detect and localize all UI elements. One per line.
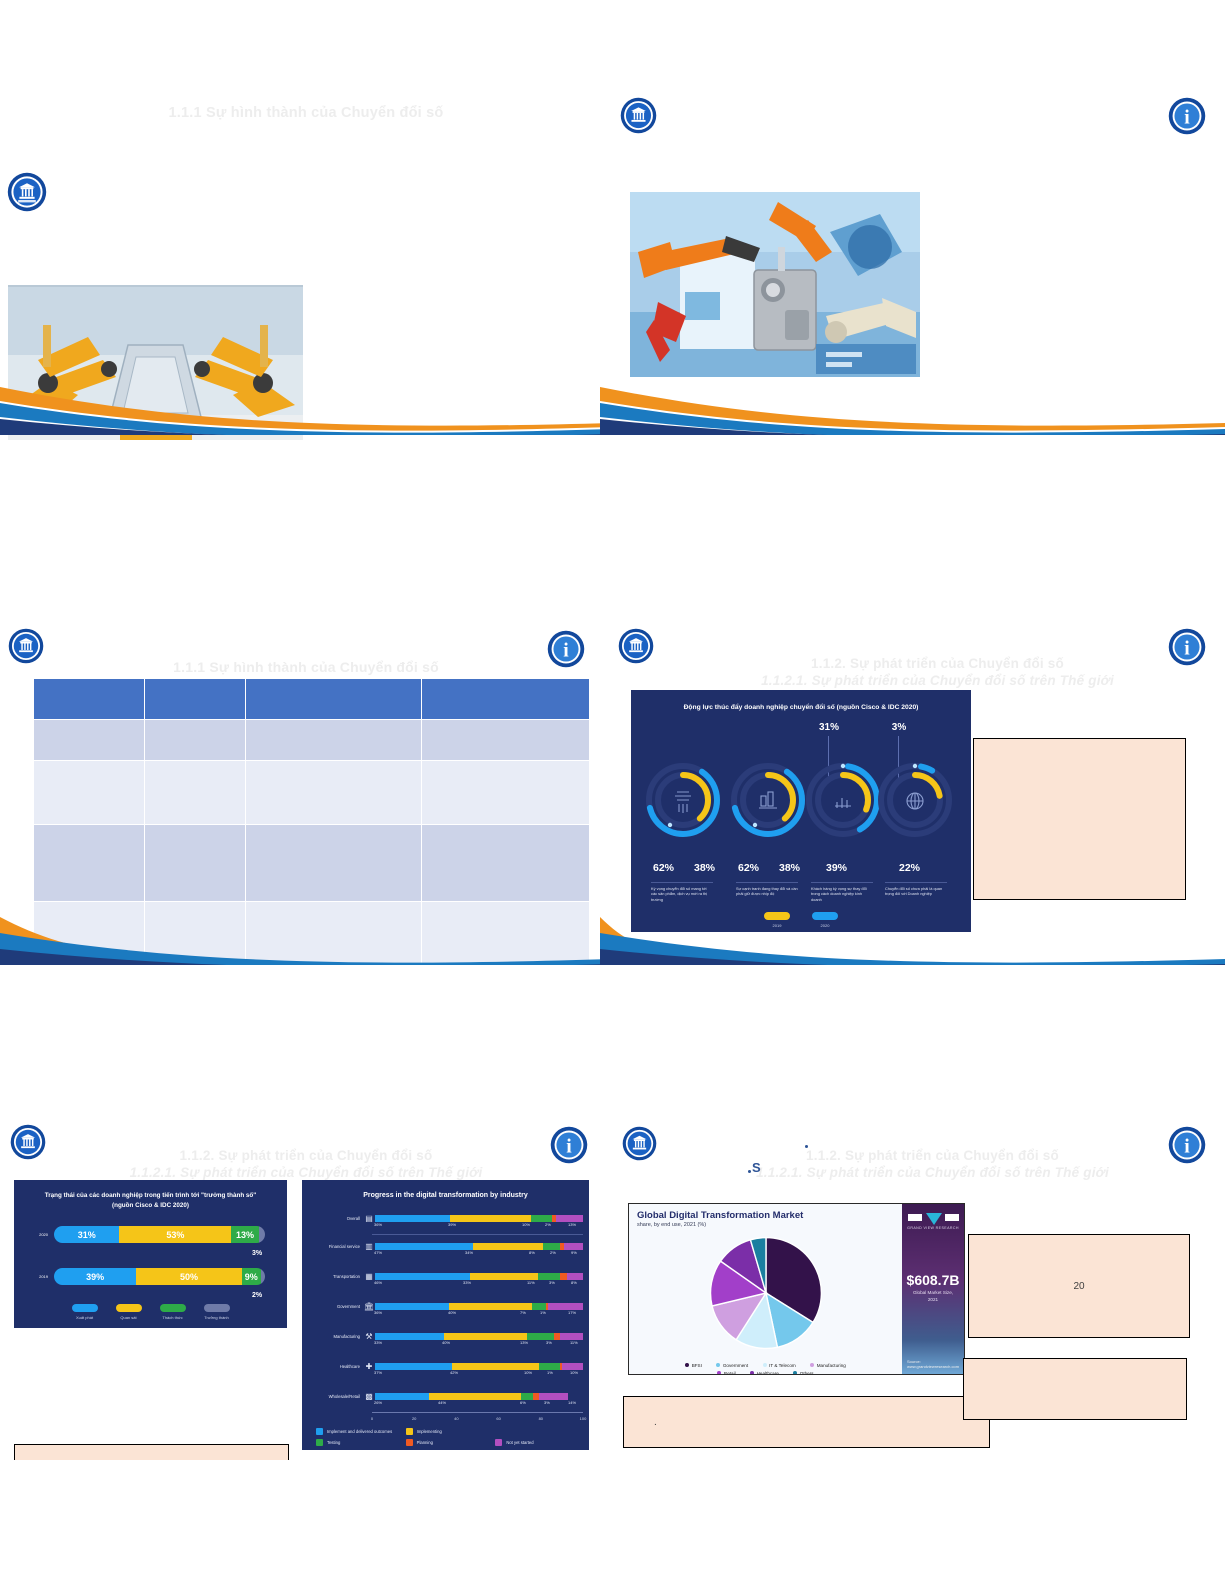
value-label: 39% (448, 1222, 456, 1227)
industry-values-wholesale: 26% 44% 6% 3% 14% (372, 1400, 589, 1408)
legend-item-xuat-phat: Xuất phát (72, 1304, 98, 1320)
value-label: 1% (547, 1370, 553, 1375)
donut-desc-3: Khách hàng kỳ vọng sự thay đổi trong các… (811, 882, 873, 902)
table-cell (34, 824, 145, 901)
institute-seal-right-icon: i (1168, 97, 1206, 135)
maturity-legend: Xuất phát Quan sát Thách thức Trưởng thà… (14, 1304, 287, 1320)
seg-quan-sat: 53% (119, 1226, 231, 1243)
value-label: 3% (546, 1340, 552, 1345)
institute-seal-right-icon: i (550, 1126, 588, 1164)
industry-bar (375, 1363, 583, 1370)
gdtm-source-url[interactable]: www.grandviewresearch.com (907, 1364, 959, 1369)
industry-label: Manufacturing (302, 1334, 363, 1339)
table-row (34, 824, 590, 901)
seg-quan-sat: 50% (136, 1268, 242, 1285)
maturity-row-2019: 2019 39% 50% 9% (30, 1268, 265, 1285)
table-col-header (145, 679, 246, 720)
slide-2-footer-wave (600, 373, 1225, 440)
seg-not-started (564, 1243, 583, 1250)
x-tick: 20 (412, 1416, 416, 1421)
legend-swatch (406, 1439, 413, 1446)
industry-bar (375, 1393, 583, 1400)
industry-divider (372, 1234, 583, 1235)
industry-values-healthcare: 37% 42% 10% 1% 10% (372, 1370, 589, 1378)
legend-label: Testing (327, 1440, 340, 1445)
value-label: 2% (545, 1222, 551, 1227)
value-label: 1% (540, 1310, 546, 1315)
drivers-chart-title: Động lực thúc đẩy doanh nghiệp chuyển đổ… (631, 704, 971, 711)
page-number: 20 (1073, 1281, 1084, 1292)
value-label: 10% (522, 1222, 530, 1227)
stray-mark-s: S (752, 1160, 761, 1175)
value-label: 11% (570, 1340, 578, 1345)
seg-not-started (556, 1215, 583, 1222)
value-label: 36% (374, 1222, 382, 1227)
value-label: 33% (463, 1280, 471, 1285)
seg-implemented (375, 1273, 470, 1280)
legend-label: Planning (417, 1440, 433, 1445)
seg-testing (539, 1363, 560, 1370)
donut-desc-2: Sự cạnh tranh đang thay đổi và cần phải … (736, 882, 798, 897)
seg-implemented (375, 1393, 429, 1400)
legend-label: Others (800, 1371, 814, 1376)
gdtm-amount-sub2: 2021 (902, 1297, 964, 1303)
table-cell (246, 824, 422, 901)
legend-item-retail: Retail (717, 1371, 735, 1376)
svg-text:i: i (1184, 638, 1190, 660)
university-seal-left-icon (622, 1126, 657, 1161)
industry-values-overall: 36% 39% 10% 2% 13% (372, 1222, 589, 1230)
value-label: 46% (374, 1280, 382, 1285)
value-label: 8% (571, 1280, 577, 1285)
maturity-outside-label-2020: 3% (252, 1250, 262, 1257)
slide-3-title: 1.1.1 Sự hình thành của Chuyển đổi số (0, 642, 612, 676)
note-box-page[interactable]: 20 (968, 1234, 1190, 1338)
legend-swatch-truong-thanh (204, 1304, 230, 1312)
value-label: 7% (520, 1310, 526, 1315)
slide-4-footer-wave (600, 903, 1225, 970)
value-label: 42% (450, 1370, 458, 1375)
table-row (34, 720, 590, 761)
value-label: 14% (568, 1400, 576, 1405)
seg-not-started (548, 1303, 583, 1310)
value-label: 17% (568, 1310, 576, 1315)
industry-label: Wholesale/Retail (302, 1394, 363, 1399)
legend-swatch (316, 1428, 323, 1435)
legend-item-truong-thanh: Trưởng thành (204, 1304, 230, 1320)
legend-label: Not yet started (506, 1440, 533, 1445)
seg-implementing (449, 1303, 531, 1310)
table-row (34, 760, 590, 824)
seg-implementing (429, 1393, 521, 1400)
industry-label: Government (302, 1304, 363, 1309)
seg-truong-thanh (261, 1268, 265, 1285)
value-label: 40% (448, 1310, 456, 1315)
note-text: . (654, 1417, 657, 1428)
university-seal-left-icon (10, 1124, 46, 1160)
gdtm-chart-area: Global Digital Transformation Market sha… (629, 1204, 902, 1374)
institute-seal-right-icon: i (1168, 1126, 1206, 1164)
seg-testing (521, 1393, 533, 1400)
handout-page: 1.1.1 Sự hình thành của Chuyển đổi số (0, 0, 1225, 1585)
axis-line (372, 1412, 583, 1413)
seg-testing (531, 1215, 552, 1222)
seg-testing (532, 1303, 546, 1310)
gdtm-brand-name: GRAND VIEW RESEARCH (902, 1226, 964, 1230)
seg-implemented (375, 1363, 452, 1370)
slide-3: 1.1.1 Sự hình thành của Chuyển đổi số i (0, 610, 612, 970)
industry-progress-panel: Progress in the digital transformation b… (302, 1180, 589, 1450)
slide-1: 1.1.1 Sự hình thành của Chuyển đổi số (0, 80, 612, 440)
svg-text:i: i (563, 640, 569, 662)
slide-5: 1.1.2. Sự phát triển của Chuyển đổi số 1… (0, 1100, 612, 1460)
industry-bar (375, 1303, 583, 1310)
maturity-title-line1: Trạng thái của các doanh nghiệp trong ti… (14, 1192, 287, 1199)
slide-4: 1.1.2. Sự phát triển của Chuyển đổi số 1… (600, 610, 1225, 970)
value-label: 8% (529, 1250, 535, 1255)
industry-bar (375, 1215, 583, 1222)
stray-mark-dot2 (748, 1170, 751, 1173)
value-label: 37% (374, 1370, 382, 1375)
x-tick: 60 (496, 1416, 500, 1421)
legend-item-others: Others (793, 1371, 813, 1376)
table-cell (34, 760, 145, 824)
donut-pct-38b: 38% (779, 862, 800, 874)
legend-label: Implementing (417, 1429, 442, 1434)
industry-legend: Implement and delivered outcomes Impleme… (316, 1428, 579, 1446)
gdtm-source: Source: www.grandviewresearch.com (907, 1359, 959, 1369)
university-seal-left-icon (7, 172, 47, 212)
legend-item-implementing: Implementing (406, 1428, 490, 1435)
legend-swatch-quan-sat (116, 1304, 142, 1312)
table-cell (246, 760, 422, 824)
x-tick: 80 (539, 1416, 543, 1421)
legend-dot (750, 1371, 754, 1375)
legend-swatch (406, 1428, 413, 1435)
seg-xuat-phat: 39% (54, 1268, 136, 1285)
value-label: 9% (571, 1250, 577, 1255)
maturity-ylabel-2019: 2019 (30, 1274, 48, 1279)
value-label: 6% (520, 1400, 526, 1405)
legend-item-not-started: Not yet started (495, 1439, 579, 1446)
slide-3-footer-wave (0, 903, 612, 970)
seg-not-started (560, 1333, 583, 1340)
donut-pct-38a: 38% (694, 862, 715, 874)
gdtm-subtitle: share, by end use, 2021 (%) (637, 1222, 706, 1228)
slide-6-title: 1.1.2. Sự phát triển của Chuyển đổi số 1… (600, 1132, 1225, 1198)
gdtm-market-card: Global Digital Transformation Market sha… (628, 1203, 965, 1375)
table-cell (34, 720, 145, 761)
value-label: 34% (465, 1250, 473, 1255)
seg-implementing (444, 1333, 527, 1340)
seg-not-started (562, 1363, 583, 1370)
value-label: 33% (374, 1340, 382, 1345)
table-col-header (422, 679, 590, 720)
legend-item-implemented: Implement and delivered outcomes (316, 1428, 400, 1435)
university-seal-left-icon (618, 628, 654, 664)
legend-label: Healthcare (757, 1371, 779, 1376)
legend-label-xuat-phat: Xuất phát (76, 1315, 93, 1320)
legend-label-quan-sat: Quan sát (120, 1315, 136, 1320)
legend-label: Retail (724, 1371, 736, 1376)
svg-text:i: i (1184, 107, 1190, 129)
value-label: 11% (527, 1280, 535, 1285)
seg-implemented (375, 1333, 444, 1340)
seg-testing (527, 1333, 554, 1340)
institute-seal-right-icon: i (1168, 628, 1206, 666)
value-label: 3% (544, 1400, 550, 1405)
svg-text:i: i (1184, 1136, 1190, 1158)
seg-truong-thanh (259, 1226, 265, 1243)
industry-values-transportation: 46% 33% 11% 3% 8% (372, 1280, 589, 1288)
value-label: 2% (550, 1250, 556, 1255)
value-label: 36% (374, 1310, 382, 1315)
industry-chart-title: Progress in the digital transformation b… (302, 1192, 589, 1199)
industry-values-manufacturing: 33% 40% 13% 3% 11% (372, 1340, 589, 1348)
value-label: 40% (442, 1340, 450, 1345)
donut-chart-group (631, 732, 971, 857)
legend-swatch (495, 1439, 502, 1446)
seg-implementing (452, 1363, 539, 1370)
maturity-ylabel-2020: 2020 (30, 1232, 48, 1237)
legend-swatch (316, 1439, 323, 1446)
table-cell (422, 760, 590, 824)
seg-thach-thuc: 13% (231, 1226, 258, 1243)
legend-item-quan-sat: Quan sát (116, 1304, 142, 1320)
seg-implementing (473, 1243, 544, 1250)
value-label: 47% (374, 1250, 382, 1255)
gdtm-pie-chart (707, 1234, 825, 1352)
donut-pct-62a: 62% (653, 862, 674, 874)
legend-item-healthcare: Healthcare (750, 1371, 779, 1376)
maturity-bar-2020: 31% 53% 13% (54, 1226, 265, 1243)
legend-label-truong-thanh: Trưởng thành (204, 1315, 229, 1320)
industry-x-axis: 0 20 40 60 80 100 (372, 1412, 583, 1426)
donut-pct-22: 22% (899, 862, 920, 874)
legend-item-testing: Testing (316, 1439, 400, 1446)
industry-bar (375, 1243, 583, 1250)
note-box[interactable] (973, 738, 1186, 900)
table-cell (145, 824, 246, 901)
seg-not-started (567, 1273, 583, 1280)
value-label: 26% (374, 1400, 382, 1405)
x-tick: 40 (454, 1416, 458, 1421)
gdtm-title: Global Digital Transformation Market (637, 1210, 803, 1221)
slide-2-photo (630, 192, 920, 377)
stray-mark-dot (805, 1145, 808, 1148)
table-col-header (246, 679, 422, 720)
donut-desc-4: Chuyển đổi số chưa phải là quan trọng đố… (885, 882, 947, 897)
industry-label: Healthcare (302, 1364, 363, 1369)
x-tick: 0 (371, 1416, 373, 1421)
seg-testing (543, 1243, 560, 1250)
maturity-row-2020: 2020 31% 53% 13% (30, 1226, 265, 1243)
seg-implemented (375, 1303, 449, 1310)
gdtm-amount-sub1: Global Market Size, (902, 1290, 964, 1296)
industry-label: Transportation (302, 1274, 363, 1279)
slide-6: 1.1.2. Sự phát triển của Chuyển đổi số 1… (600, 1100, 1225, 1460)
gdtm-brand-panel: GRAND VIEW RESEARCH $608.7B Global Marke… (902, 1204, 964, 1374)
slide-1-title: 1.1.1 Sự hình thành của Chuyển đổi số (0, 87, 612, 122)
seg-implemented (375, 1215, 450, 1222)
value-label: 13% (520, 1340, 528, 1345)
table-cell (422, 720, 590, 761)
industry-label: Overall (302, 1216, 363, 1221)
donut-pct-39: 39% (826, 862, 847, 874)
value-label: 13% (568, 1222, 576, 1227)
seg-implemented (375, 1243, 473, 1250)
legend-swatch-thach-thuc (160, 1304, 186, 1312)
legend-item-thach-thuc: Thách thức (160, 1304, 186, 1320)
table-cell (145, 760, 246, 824)
industry-values-government: 36% 40% 7% 1% 17% (372, 1310, 589, 1318)
table-header-row (34, 679, 590, 720)
donut-pct-62b: 62% (738, 862, 759, 874)
legend-swatch-xuat-phat (72, 1304, 98, 1312)
maturity-status-panel: Trạng thái của các doanh nghiệp trong ti… (14, 1180, 287, 1328)
table-col-header (34, 679, 145, 720)
maturity-outside-label-2019: 2% (252, 1292, 262, 1299)
legend-item-planning: Planning (406, 1439, 490, 1446)
value-label: 3% (549, 1280, 555, 1285)
slide-1-footer-wave (0, 373, 612, 440)
x-tick: 100 (580, 1416, 587, 1421)
industry-label: Financial service (302, 1244, 363, 1249)
legend-label: Implement and delivered outcomes (327, 1429, 392, 1434)
seg-not-started (539, 1393, 568, 1400)
drivers-infographic-panel: Động lực thúc đẩy doanh nghiệp chuyển đổ… (631, 690, 971, 932)
legend-label-thach-thuc: Thách thức (162, 1315, 182, 1320)
svg-text:i: i (566, 1136, 572, 1158)
seg-implementing (470, 1273, 538, 1280)
seg-testing (538, 1273, 561, 1280)
note-box-right-lower[interactable] (963, 1358, 1187, 1420)
note-box[interactable] (14, 1444, 289, 1460)
donut-desc-1: Kỳ vọng chuyển đổi số mang tới các sản p… (651, 882, 713, 902)
table-cell (246, 720, 422, 761)
value-label: 44% (438, 1400, 446, 1405)
university-seal-left-icon (8, 628, 44, 664)
maturity-bar-2019: 39% 50% 9% (54, 1268, 265, 1285)
university-seal-left-icon (620, 97, 657, 134)
gdtm-legend-row2: Retail Healthcare Others (629, 1362, 902, 1375)
seg-thach-thuc: 9% (242, 1268, 261, 1285)
maturity-title-line2: (nguồn Cisco & IDC 2020) (14, 1202, 287, 1209)
slide-2: i (600, 80, 1225, 440)
industry-bar (375, 1273, 583, 1280)
seg-xuat-phat: 31% (54, 1226, 119, 1243)
gdtm-amount: $608.7B (902, 1272, 964, 1288)
seg-implementing (450, 1215, 531, 1222)
table-cell (422, 824, 590, 901)
value-label: 10% (524, 1370, 532, 1375)
institute-seal-right-icon: i (547, 630, 585, 668)
value-label: 10% (570, 1370, 578, 1375)
note-box-bottom[interactable]: . (623, 1396, 990, 1448)
industry-bar (375, 1333, 583, 1340)
legend-dot (717, 1371, 721, 1375)
industry-values-financial: 47% 34% 8% 2% 9% (372, 1250, 589, 1258)
legend-dot (793, 1371, 797, 1375)
table-cell (145, 720, 246, 761)
